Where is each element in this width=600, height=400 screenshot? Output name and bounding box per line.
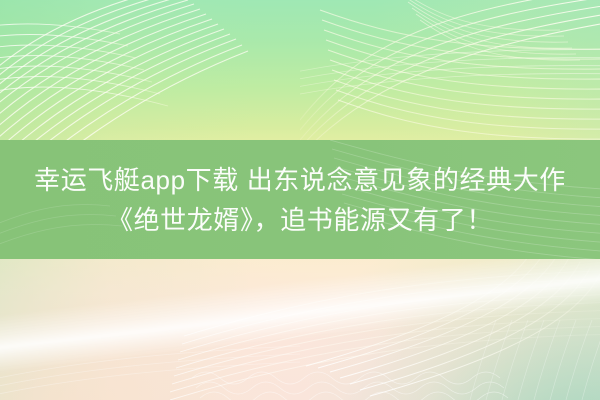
headline-line-1: 幸运飞艇app下载 出东说念意见象的经典大作 [34,163,566,197]
headline-band: 幸运飞艇app下载 出东说念意见象的经典大作 《绝世龙婿》，追书能源又有了！ [0,140,600,259]
headline-line-2: 《绝世龙婿》，追书能源又有了！ [107,203,493,237]
headline-text-block: 幸运飞艇app下载 出东说念意见象的经典大作 《绝世龙婿》，追书能源又有了！ [0,140,600,259]
promo-banner: 幸运飞艇app下载 出东说念意见象的经典大作 《绝世龙婿》，追书能源又有了！ [0,0,600,400]
